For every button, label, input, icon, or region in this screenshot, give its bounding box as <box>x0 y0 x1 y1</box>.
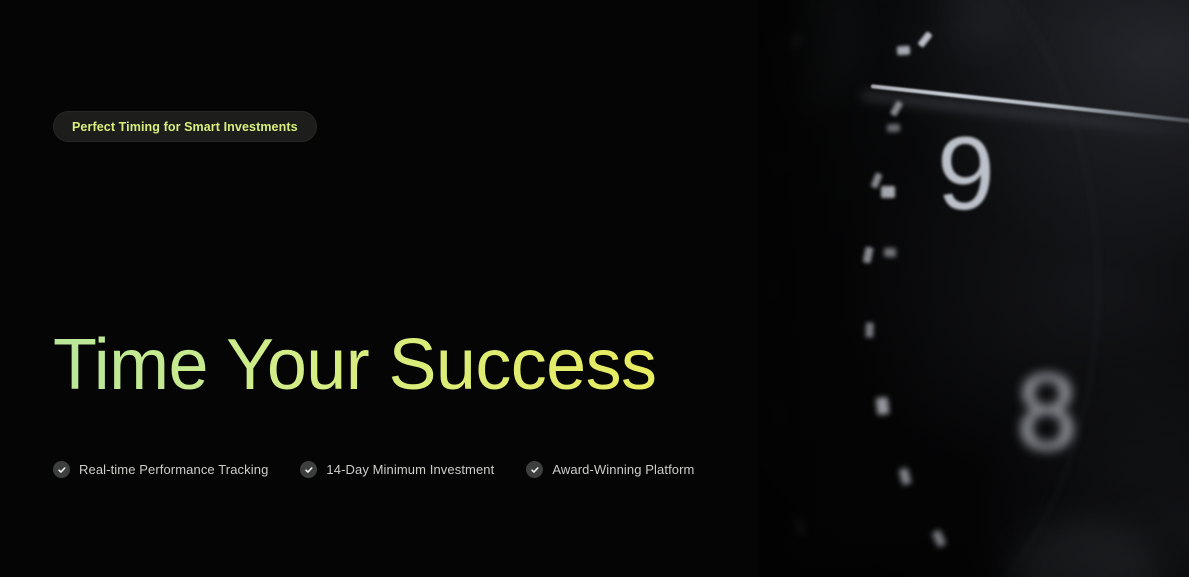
check-circle-icon <box>526 461 543 478</box>
watch-tick-mark <box>876 397 890 415</box>
headline-line-1: Time Your Success <box>53 325 656 406</box>
hero-content: Perfect Timing for Smart Investments Tim… <box>53 0 833 577</box>
feature-label: Award-Winning Platform <box>552 462 694 477</box>
list-item: 14-Day Minimum Investment <box>300 461 494 478</box>
list-item: Real-time Performance Tracking <box>53 461 268 478</box>
watch-numeral-9: 9 <box>937 122 995 226</box>
hero-eyebrow-badge: Perfect Timing for Smart Investments <box>53 111 317 142</box>
hero-section: 9 8 Perfect Timing for Smart Investments… <box>0 0 1189 577</box>
watch-tick-mark <box>884 248 896 257</box>
feature-label: 14-Day Minimum Investment <box>326 462 494 477</box>
watch-numeral-8: 8 <box>1017 358 1077 466</box>
watch-tick-mark <box>865 322 874 337</box>
check-circle-icon <box>300 461 317 478</box>
check-circle-icon <box>53 461 70 478</box>
headline-line-2: with Marketing <box>53 568 656 577</box>
watch-tick-mark <box>887 124 900 132</box>
page-title: Time Your Success with Marketing Investm… <box>53 163 656 577</box>
watch-tick-mark <box>897 46 911 56</box>
watch-tick-mark <box>881 186 895 198</box>
list-item: Award-Winning Platform <box>526 461 694 478</box>
feature-label: Real-time Performance Tracking <box>79 462 268 477</box>
hero-feature-list: Real-time Performance Tracking 14-Day Mi… <box>53 461 694 478</box>
